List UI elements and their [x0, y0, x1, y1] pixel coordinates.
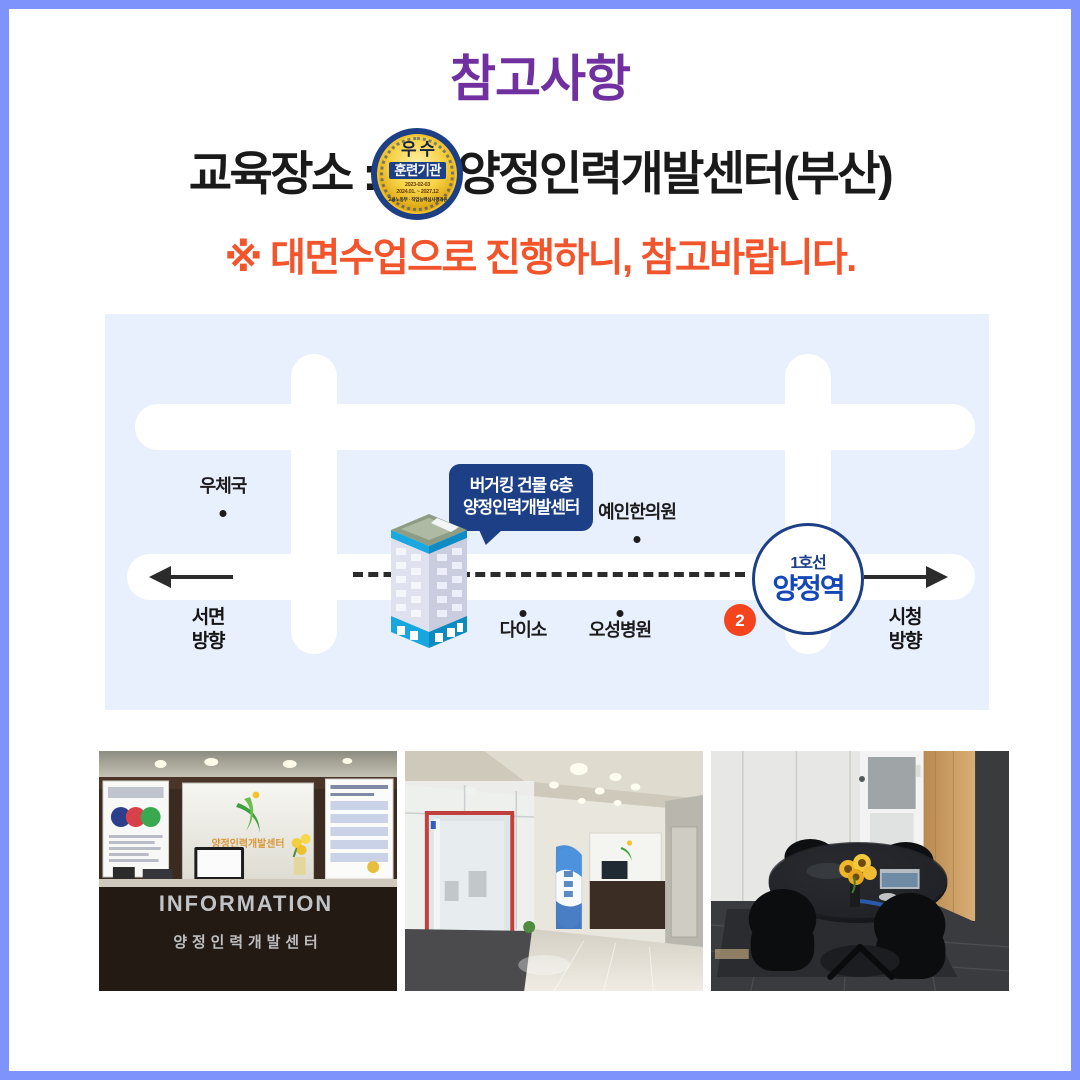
seal-date-line2: 2024.01. ~ 2027.12 [396, 189, 438, 195]
poi-dot-daiso [520, 610, 527, 617]
poi-dot-oseong-hospital [617, 610, 624, 617]
bubble-line-1: 버거킹 건물 6층 [470, 476, 573, 495]
station-name-label: 양정역 [772, 575, 843, 603]
direction-arrow-right [862, 564, 952, 595]
location-map: 우체국 예인한의원 다이소 오성병원 서면 방향 시청 방향 버거킹 건물 6층… [105, 314, 989, 710]
poi-dot-post-office [220, 510, 227, 517]
seal-footer-label: 고용노동부 · 직업능력심사평가원 [388, 198, 448, 203]
page-title: 참고사항 [9, 53, 1071, 106]
svg-text:양정인력개발센터: 양정인력개발센터 [173, 933, 322, 951]
venue-name-label: 양정인력개발센터(부산) [457, 148, 891, 200]
seal-dates: 2023-02-03 2024.01. ~ 2027.12 [396, 182, 438, 196]
center-building-icon [385, 510, 473, 655]
venue-prefix-label: 교육장소 : [189, 148, 376, 200]
reception-desk-photo: 양정인력개발센터 [99, 751, 397, 991]
poi-dot-yein-oriental-clinic [634, 536, 641, 543]
poi-label-oseong-hospital: 오성병원 [589, 620, 651, 641]
excellent-training-institution-seal-icon: 우 수 훈련기관 2023-02-03 2024.01. ~ 2027.12 고… [371, 128, 463, 220]
svg-text:INFORMATION: INFORMATION [159, 891, 333, 916]
face-to-face-notice: ※ 대면수업으로 진행하니, 참고바랍니다. [9, 238, 1071, 281]
venue-line: 교육장소 : 우 수 훈련기관 2023-02-03 2024.01. ~ 20… [9, 128, 1071, 220]
direction-arrow-left [145, 564, 235, 595]
meeting-room-photo [711, 751, 1009, 991]
road-vertical-left [291, 354, 337, 654]
direction-label-seomyeon: 서면 방향 [192, 606, 225, 654]
poi-label-daiso: 다이소 [500, 620, 547, 641]
subway-line-label: 1호선 [790, 556, 825, 572]
corridor-entrance-photo [405, 751, 703, 991]
seal-mid-label: 훈련기관 [389, 162, 445, 180]
poi-label-yein-oriental-clinic: 예인한의원 [598, 502, 676, 523]
seal-top-label: 우 수 [401, 141, 434, 158]
direction-label-city-hall: 시청 방향 [889, 606, 922, 654]
header: 참고사항 교육장소 : 우 수 훈련기관 2023-02-03 2024.01.… [9, 9, 1071, 280]
station-exit-badge: 2 [724, 604, 756, 636]
seal-date-line1: 2023-02-03 [405, 182, 430, 188]
yangjeong-station-marker: 1호선 양정역 [752, 523, 864, 635]
poi-label-post-office: 우체국 [200, 476, 247, 497]
facility-photo-row: 양정인력개발센터 [99, 751, 1009, 991]
bubble-line-2: 양정인력개발센터 [463, 497, 579, 519]
road-horizontal-top [135, 404, 975, 450]
poster-root: 참고사항 교육장소 : 우 수 훈련기관 2023-02-03 2024.01.… [0, 0, 1080, 1080]
